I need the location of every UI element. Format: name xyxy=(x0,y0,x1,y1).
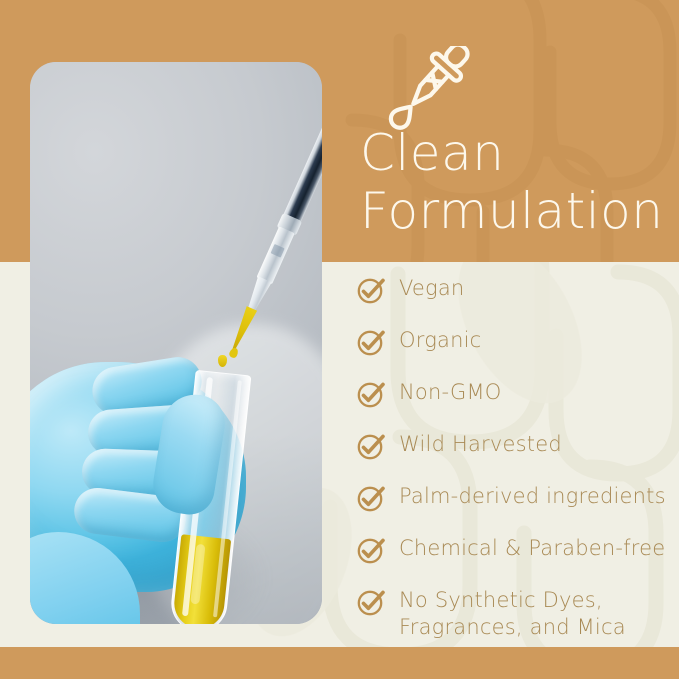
feature-list: Vegan Organic xyxy=(356,274,679,641)
check-circle-icon xyxy=(356,275,386,305)
feature-text: Non-GMO xyxy=(399,380,502,404)
list-item: Wild Harvested xyxy=(356,430,679,460)
feature-text: Chemical & Paraben-free xyxy=(399,536,665,560)
check-circle-icon xyxy=(356,483,386,513)
headline-line-1: Clean xyxy=(360,124,504,182)
list-item: Chemical & Paraben-free xyxy=(356,534,679,564)
check-circle-icon xyxy=(356,379,386,409)
feature-text: Palm-derived ingredients xyxy=(399,484,666,508)
list-item: Palm-derived ingredients xyxy=(356,482,679,512)
check-circle-icon xyxy=(356,431,386,461)
list-item-label: Vegan xyxy=(399,274,464,302)
product-photo xyxy=(30,62,322,624)
feature-text: Vegan xyxy=(399,276,464,300)
list-item: Organic xyxy=(356,326,679,356)
list-item-label: Wild Harvested xyxy=(399,430,562,458)
check-circle-icon xyxy=(356,587,386,617)
list-item-label: Palm-derived ingredients xyxy=(399,482,666,510)
feature-text-line-2: Fragrances, and Mica xyxy=(399,614,626,641)
product-feature-poster: Clean Formulation Vegan xyxy=(0,0,679,679)
list-item: No Synthetic Dyes, Fragrances, and Mica xyxy=(356,586,679,641)
list-item-label: Chemical & Paraben-free xyxy=(399,534,665,562)
list-item-label: No Synthetic Dyes, Fragrances, and Mica xyxy=(399,586,626,641)
check-circle-icon xyxy=(356,327,386,357)
list-item: Vegan xyxy=(356,274,679,304)
page-title: Clean Formulation xyxy=(360,124,679,240)
headline-line-2: Formulation xyxy=(360,182,679,240)
content-column: Clean Formulation Vegan xyxy=(352,0,679,679)
pipette-oil xyxy=(226,305,258,353)
list-item: Non-GMO xyxy=(356,378,679,408)
check-circle-icon xyxy=(356,535,386,565)
feature-text: No Synthetic Dyes, xyxy=(399,588,603,612)
feature-text: Organic xyxy=(399,328,481,352)
feature-text: Wild Harvested xyxy=(399,432,562,456)
list-item-label: Organic xyxy=(399,326,481,354)
list-item-label: Non-GMO xyxy=(399,378,502,406)
